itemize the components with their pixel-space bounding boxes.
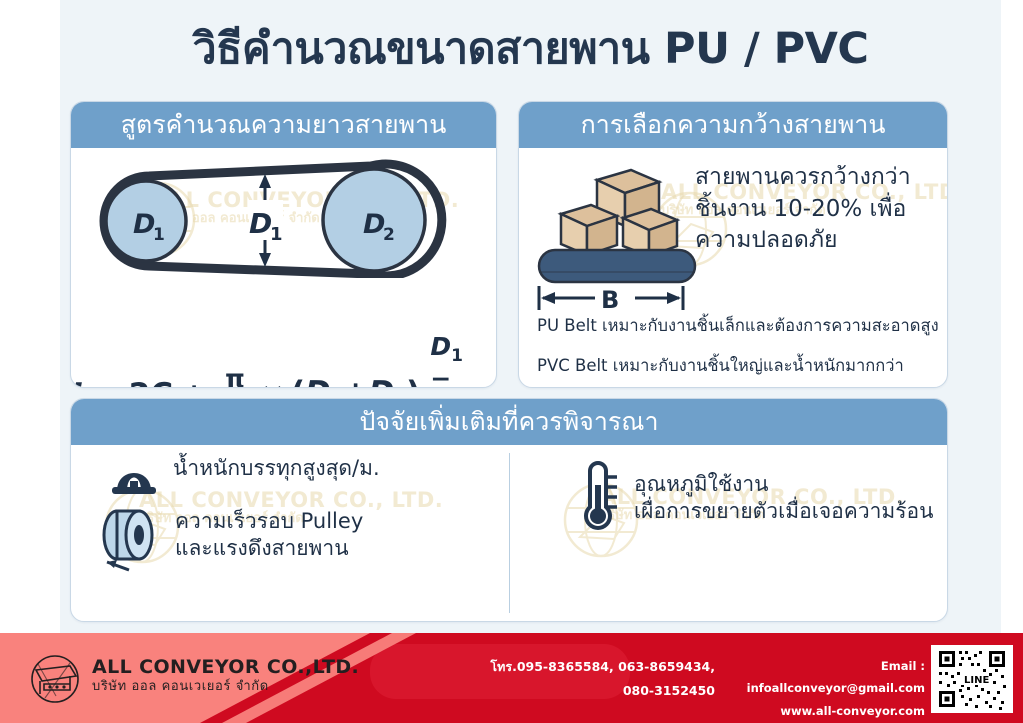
belt-length-card-body: ALL CONVEYOR CO., LTD. บริษัท ออล คอนเวเ… [71,148,496,278]
qr-code-icon: LINE [931,645,1013,713]
footer-company-en: ALL CONVEYOR CO.,LTD. [92,657,359,678]
formula-times: × [260,377,286,388]
pulley-roller-icon [95,500,165,576]
extra-factors-card: ปัจจัยเพิ่มเติมที่ควรพิจารณา ALL CONVEYO… [70,398,948,622]
formula-group: (D1+D2) [291,375,420,388]
line-qr-code[interactable]: LINE [931,645,1013,713]
factor-label-temperature-line2: เผื่อการขยายตัวเมื่อเจอความร้อน [634,498,934,525]
factor-label-pulley-speed-line1: ความเร็วรอบ Pulley [175,508,363,535]
belt-width-copy: สายพานควรกว้างกว่าชิ้นงาน 10-20% เพื่อคว… [695,162,935,257]
formula-plus: + [181,377,207,388]
belt-length-card-header: สูตรคำนวณความยาวสายพาน [71,102,496,148]
factor-text-pulley-speed: ความเร็วรอบ Pulley และแรงดึงสายพาน [175,508,363,563]
svg-text:2: 2 [383,225,395,245]
footer-website[interactable]: www.all-conveyor.com [730,700,925,722]
extra-factors-left-column: ALL CONVEYOR CO., LTD. บริษัท ออล คอนเวเ… [71,445,509,620]
footer-company-th: บริษัท ออล คอนเวเยอร์ จำกัด [92,678,359,697]
formula-fraction-pi-over-2: π 2 [220,366,250,388]
extra-factors-body: ALL CONVEYOR CO., LTD. บริษัท ออล คอนเวเ… [71,445,947,620]
footer-email[interactable]: Email : infoallconveyor@gmail.com [730,655,925,700]
footer-phone-line2: 080-3152450 [490,679,715,703]
qr-line-label: LINE [964,675,989,686]
formula-fraction-diff-over-4c: D1 − D2 4C [425,334,491,388]
formula-term1: 2C [129,377,173,388]
footer-phone-line1: โทร.095-8365584, 063-8659434, [490,655,715,679]
footer-contact-block: Email : infoallconveyor@gmail.com www.al… [730,655,925,723]
load-weight-icon [107,451,161,499]
infographic-page: วิธีคำนวณขนาดสายพาน PU / PVC สูตรคำนวณคว… [0,0,1023,723]
thermometer-icon [570,461,622,539]
formula-equals: = [97,377,123,388]
formula-diff: D1 − D2 [425,334,491,388]
belt-width-card: การเลือกความกว้างสายพาน ALL CONVEYOR CO.… [518,101,948,388]
factor-row-temperature: อุณหภูมิใช้งาน เผื่อการขยายตัวเมื่อเจอคว… [570,461,934,539]
factor-label-pulley-speed-line2: และแรงดึงสายพาน [175,535,363,562]
svg-text:B: B [601,286,619,314]
factor-label-load-weight: น้ำหนักบรรทุกสูงสุด/ม. [173,455,380,482]
pvc-belt-note: PVC Belt เหมาะกับงานชิ้นใหญ่และน้ำหนักมา… [537,353,904,379]
belt-length-formula: L = 2C + π 2 × (D1+D2) D1 − D2 4C [71,334,496,388]
pulley-diagram: ALL CONVEYOR CO., LTD. บริษัท ออล คอนเวเ… [71,148,496,278]
formula-lhs: L [71,377,91,388]
svg-text:D: D [249,207,272,240]
factor-label-temperature-line1: อุณหภูมิใช้งาน [634,471,934,498]
conveyor-boxes-svg [531,152,706,302]
factor-row-pulley-speed: ความเร็วรอบ Pulley และแรงดึงสายพาน [95,500,363,576]
belt-width-card-body: ALL CONVEYOR CO., LTD. บริษัท ออล คอนเวเ… [519,148,947,303]
company-logo-icon [30,654,80,704]
footer-phone-block: โทร.095-8365584, 063-8659434, 080-315245… [490,655,715,703]
factor-row-load-weight: น้ำหนักบรรทุกสูงสุด/ม. [107,451,380,499]
footer-brand: ALL CONVEYOR CO.,LTD. บริษัท ออล คอนเวเย… [92,657,359,697]
belt-width-card-header: การเลือกความกว้างสายพาน [519,102,947,148]
formula-pi: π [220,366,250,388]
pulley-belt-svg: D 1 D 2 D 1 [71,148,496,278]
page-title: วิธีคำนวณขนาดสายพาน PU / PVC [60,12,1001,84]
extra-factors-right-column: ALL CONVEYOR CO., LTD. บริษัท ออล คอนเวเ… [510,445,947,620]
svg-text:1: 1 [153,225,165,245]
conveyor-illustration-area: ALL CONVEYOR CO., LTD. บริษัท ออล คอนเวเ… [519,148,947,303]
footer-bar: ALL CONVEYOR CO.,LTD. บริษัท ออล คอนเวเย… [0,633,1023,723]
extra-factors-card-header: ปัจจัยเพิ่มเติมที่ควรพิจารณา [71,399,947,445]
belt-length-card: สูตรคำนวณความยาวสายพาน ALL CONVEYOR CO.,… [70,101,497,388]
pu-belt-note: PU Belt เหมาะกับงานชิ้นเล็กและต้องการควา… [537,313,939,339]
factor-text-temperature: อุณหภูมิใช้งาน เผื่อการขยายตัวเมื่อเจอคว… [634,471,934,526]
svg-text:1: 1 [270,224,283,245]
